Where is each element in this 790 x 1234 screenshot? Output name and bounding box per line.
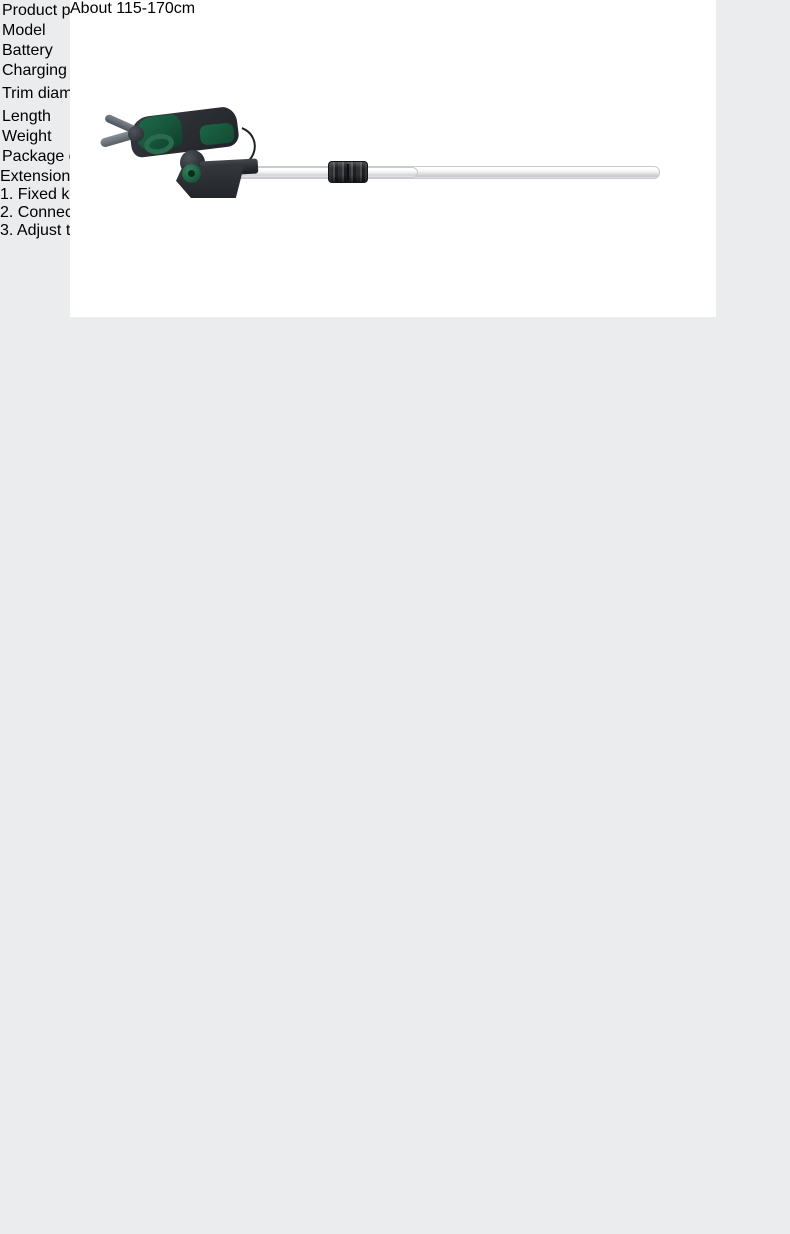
- dimension-caption: About 115-170cm: [70, 0, 716, 18]
- product-detail-page: About 115-170cm Product parameters Model…: [0, 0, 790, 1234]
- product-illustration: About 115-170cm: [70, 0, 716, 317]
- pruner-head: [88, 98, 278, 203]
- rear-handle-body: [570, 152, 654, 178]
- rear-handle-assembly: [570, 146, 688, 204]
- fixing-knob-icon: [182, 164, 201, 183]
- hero-product-card: About 115-170cm: [70, 0, 716, 317]
- pole-connector-collar-icon: [328, 161, 368, 183]
- blade-pivot-hub: [128, 126, 144, 142]
